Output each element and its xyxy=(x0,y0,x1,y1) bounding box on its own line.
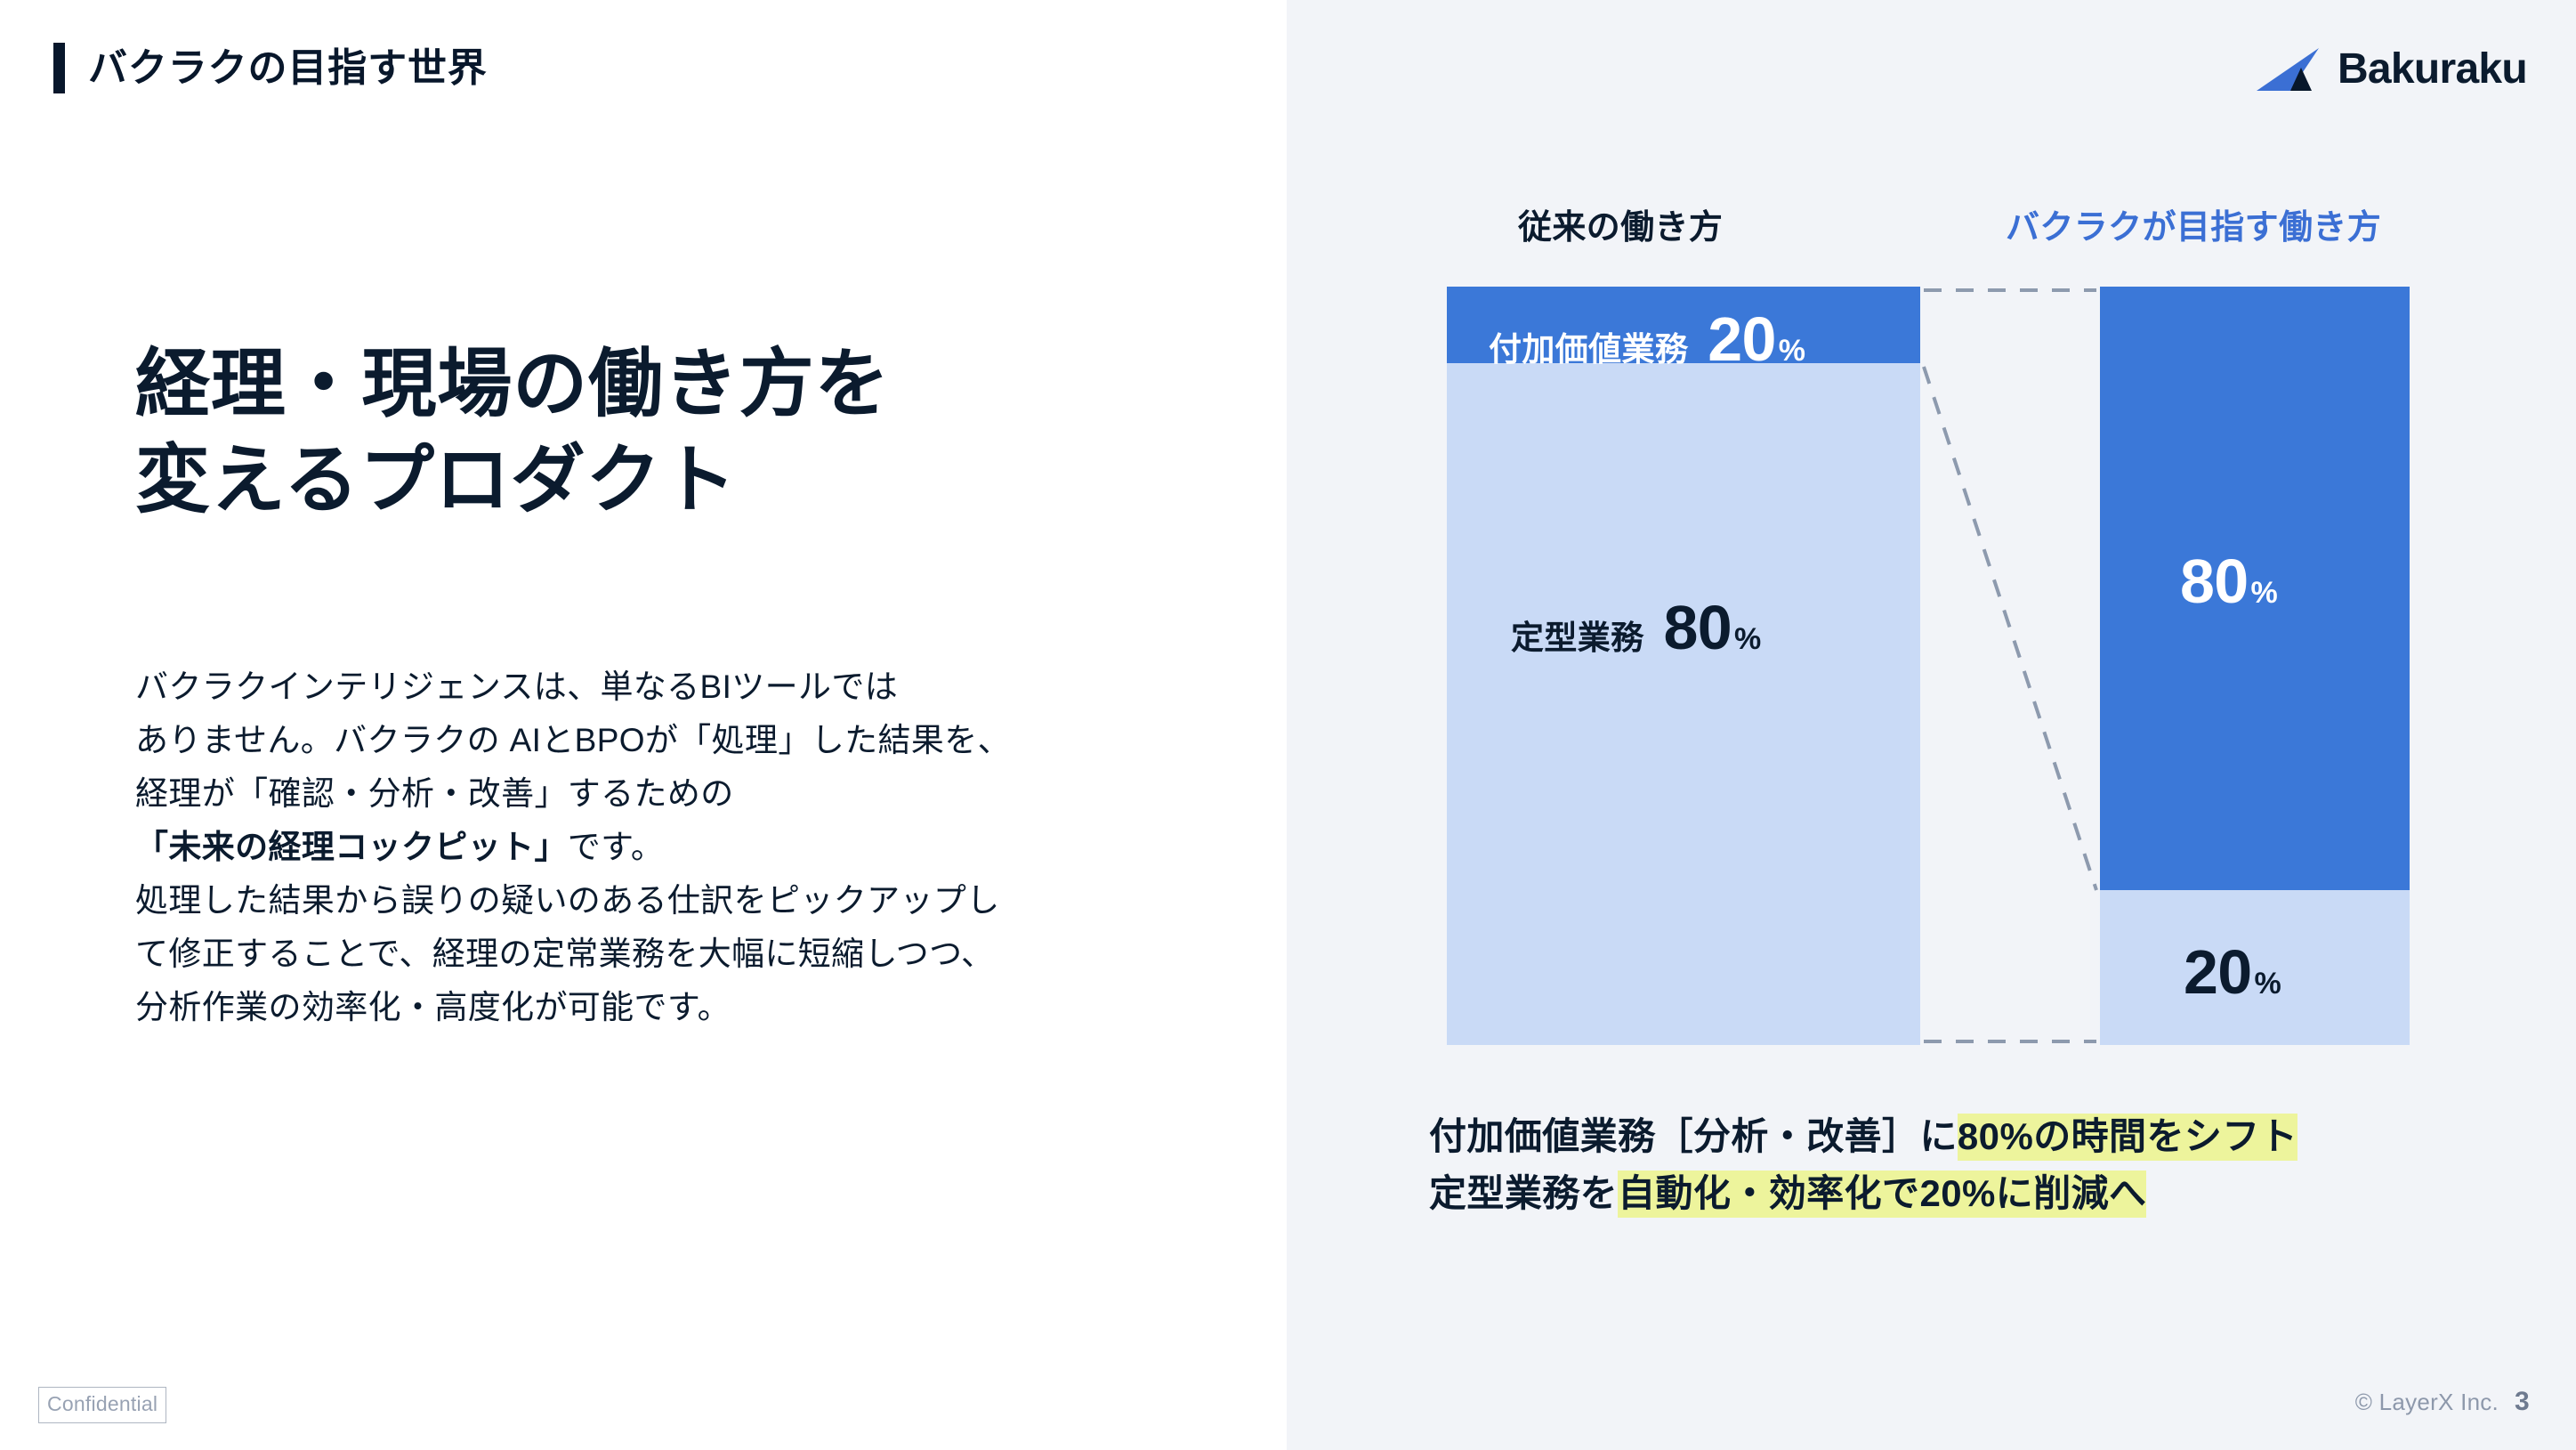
bar-after: 80 % 20 % xyxy=(2100,287,2410,1045)
page-number: 3 xyxy=(2515,1389,2530,1415)
body-line-5: 処理した結果から誤りの疑いのある仕訳をピックアップし xyxy=(135,874,1185,928)
body-line-4-bold: 「未来の経理コックピット」 xyxy=(135,829,568,865)
caption-line-2-highlight: 自動化・効率化で20%に削減へ xyxy=(1618,1171,2146,1218)
body-line-6: て修正することで、経理の定常業務を大幅に短縮しつつ、 xyxy=(135,928,1185,981)
body-line-3: 経理が「確認・分析・改善」するための xyxy=(135,767,1185,821)
bar-before-bottom-unit: % xyxy=(1734,624,1761,654)
body-line-4: 「未来の経理コックピット」です。 xyxy=(135,821,1185,874)
caption-line-2-prefix: 定型業務を xyxy=(1429,1172,1618,1214)
confidential-badge: Confidential xyxy=(38,1387,166,1423)
bar-after-bottom-value: 20 xyxy=(2184,941,2251,1003)
headline-line-1: 経理・現場の働き方を xyxy=(135,336,890,433)
bar-before-bottom-label: 定型業務 80 % xyxy=(1511,596,1761,659)
headline: 経理・現場の働き方を 変えるプロダクト xyxy=(135,336,890,528)
page-title: バクラクの目指す世界 xyxy=(88,49,488,88)
body-copy: バクラクインテリジェンスは、単なるBIツールでは ありません。バクラクの AIと… xyxy=(135,660,1185,1034)
bar-after-top-label: 80 % xyxy=(2180,550,2278,612)
body-line-1: バクラクインテリジェンスは、単なるBIツールでは xyxy=(135,660,1185,714)
caption-line-1: 付加価値業務［分析・改善］に80%の時間をシフト xyxy=(1429,1108,2297,1165)
caption-line-2: 定型業務を自動化・効率化で20%に削減へ xyxy=(1429,1165,2297,1222)
bar-before: 付加価値業務 20 % 定型業務 80 % xyxy=(1447,287,1920,1045)
slide-footer: © LayerX Inc. 3 xyxy=(2355,1389,2530,1415)
bar-before-top-label: 付加価値業務 20 % xyxy=(1489,308,1805,370)
caption-line-1-highlight: 80%の時間をシフト xyxy=(1958,1114,2297,1161)
bar-before-top-category: 付加価値業務 xyxy=(1489,333,1688,366)
bar-before-top-unit: % xyxy=(1779,336,1805,366)
slide-header: バクラクの目指す世界 xyxy=(53,43,488,93)
slide: バクラクの目指す世界 経理・現場の働き方を 変えるプロダクト バクラクインテリジ… xyxy=(0,0,2576,1450)
bar-before-top-value: 20 xyxy=(1708,308,1775,370)
body-line-7: 分析作業の効率化・高度化が可能です。 xyxy=(135,981,1185,1034)
caption-line-1-prefix: 付加価値業務［分析・改善］に xyxy=(1429,1115,1958,1157)
chart-caption: 付加価値業務［分析・改善］に80%の時間をシフト 定型業務を自動化・効率化で20… xyxy=(1429,1108,2297,1222)
header-accent-bar xyxy=(53,43,65,93)
headline-line-2: 変えるプロダクト xyxy=(135,433,890,529)
bar-after-bottom-unit: % xyxy=(2254,968,2281,999)
body-line-4-tail: です。 xyxy=(568,829,664,865)
bar-before-bottom-category: 定型業務 xyxy=(1511,621,1643,654)
body-line-2: ありません。バクラクの AIとBPOが「処理」した結果を、 xyxy=(135,714,1185,767)
copyright-text: © LayerX Inc. xyxy=(2355,1390,2499,1414)
right-panel: Bakuraku 従来の働き方 バクラクが目指す働き方 付加価値業務 20 % xyxy=(1287,0,2576,1450)
bar-before-segment-routine xyxy=(1447,363,1920,1045)
left-panel: バクラクの目指す世界 経理・現場の働き方を 変えるプロダクト バクラクインテリジ… xyxy=(0,0,1287,1450)
bar-after-top-value: 80 xyxy=(2180,550,2248,612)
work-style-comparison-chart: 従来の働き方 バクラクが目指す働き方 付加価値業務 20 % 定型業務 xyxy=(1287,0,2576,1450)
bar-after-bottom-label: 20 % xyxy=(2184,941,2281,1003)
bar-after-top-unit: % xyxy=(2250,578,2277,608)
bar-before-bottom-value: 80 xyxy=(1663,596,1731,659)
